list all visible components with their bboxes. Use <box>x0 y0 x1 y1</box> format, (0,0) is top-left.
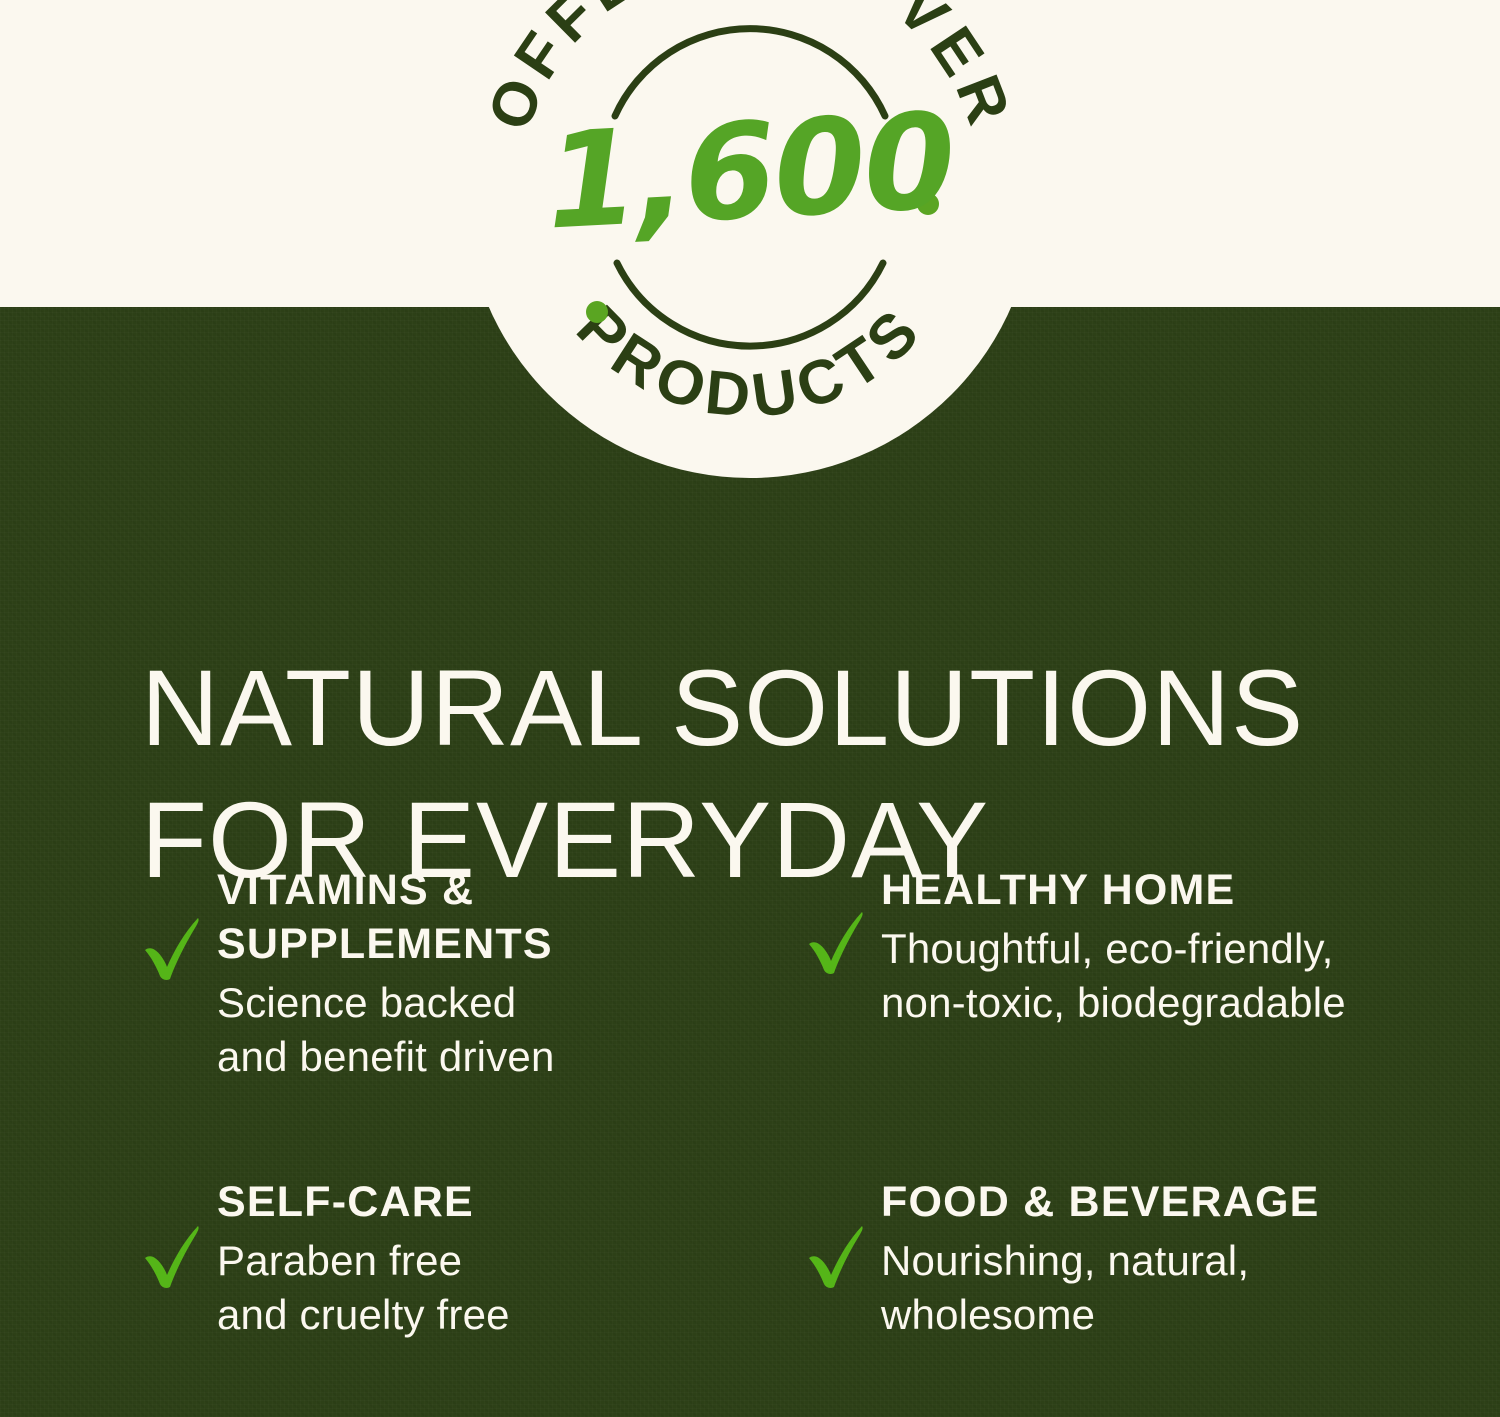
feature-description: Paraben free and cruelty free <box>217 1234 761 1343</box>
feature-text-block: VITAMINS & SUPPLEMENTS Science backed an… <box>217 862 761 1085</box>
checkmark-icon <box>141 1218 203 1290</box>
feature-title: HEALTHY HOME <box>881 864 1455 918</box>
feature-title: FOOD & BEVERAGE <box>881 1176 1455 1230</box>
feature-description: Thoughtful, eco-friendly, non-toxic, bio… <box>881 922 1455 1031</box>
feature-item-healthy-home: HEALTHY HOME Thoughtful, eco-friendly, n… <box>805 862 1455 1031</box>
checkmark-icon <box>805 1218 867 1290</box>
feature-text-block: FOOD & BEVERAGE Nourishing, natural, who… <box>881 1174 1455 1343</box>
badge-ring-text-bottom: PRODUCTS <box>563 293 936 431</box>
feature-description: Science backed and benefit driven <box>217 976 761 1085</box>
feature-text-block: SELF-CARE Paraben free and cruelty free <box>217 1174 761 1343</box>
feature-text-block: HEALTHY HOME Thoughtful, eco-friendly, n… <box>881 862 1455 1031</box>
feature-title: SELF-CARE <box>217 1176 761 1230</box>
product-banner: OFFERING OVER PRODUCTS 1,600 NATURAL SOL… <box>0 0 1500 1417</box>
checkmark-icon <box>805 904 867 976</box>
checkmark-icon <box>141 910 203 982</box>
badge-product-count: 1,600 <box>462 91 1038 253</box>
feature-list: VITAMINS & SUPPLEMENTS Science backed an… <box>0 862 1500 1362</box>
feature-description: Nourishing, natural, wholesome <box>881 1234 1455 1343</box>
ring-dot-separator-left-icon <box>586 301 608 323</box>
feature-title: VITAMINS & SUPPLEMENTS <box>217 864 761 972</box>
feature-item-food-beverage: FOOD & BEVERAGE Nourishing, natural, who… <box>805 1174 1455 1343</box>
offering-badge: OFFERING OVER PRODUCTS 1,600 <box>465 0 1035 478</box>
headline-line-1: NATURAL SOLUTIONS <box>141 642 1391 774</box>
feature-item-vitamins-supplements: VITAMINS & SUPPLEMENTS Science backed an… <box>141 862 761 1085</box>
feature-item-self-care: SELF-CARE Paraben free and cruelty free <box>141 1174 761 1343</box>
